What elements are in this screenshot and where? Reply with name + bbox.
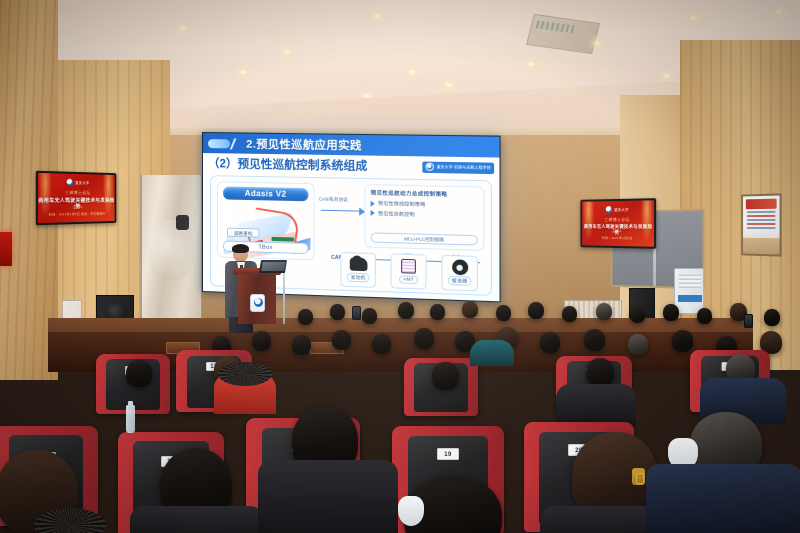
smartphone[interactable] [352,306,361,320]
presenter-hair [232,244,249,253]
right-banner-display: 重庆大学 三峡博士论坛 商用车无人驾驶关键技术与发展趋势 主讲人 时间：2021… [580,198,656,249]
audience-head [362,308,377,324]
device-row: 发动机 AMT 缓速器 [333,250,485,292]
audience-head [126,360,152,387]
engine-icon [349,257,367,272]
poster-line [747,223,776,225]
university-badge: 重庆大学 机械与运载工程学院 [423,161,494,174]
control-strategy-title: 预见性巡航动力总成控制策略 [371,189,478,198]
audience-shoulders [556,384,636,426]
audience-head [764,309,780,326]
ceiling-downlight [240,70,246,74]
audience-head [697,308,712,324]
ceiling-downlight [664,74,670,78]
audience-head [596,303,612,320]
water-bottle [126,405,135,433]
audience-head [414,328,434,349]
university-seal-icon [66,179,73,186]
presenter-laptop[interactable] [259,260,287,273]
device-caption: AMT [399,275,418,284]
poster-line [747,219,776,221]
retarder-icon [451,260,469,275]
audience-head [432,362,459,390]
ceiling-downlight [284,50,290,54]
audience-head [540,332,560,353]
audience-head [462,301,478,318]
seat-number-plate: 19 [437,448,459,460]
strategy-item-label: 预见性巡航控制 [378,209,415,217]
flow-arrow: CAN/私有协议 [319,201,369,218]
university-seal-icon [606,206,613,213]
audience-head [584,329,605,351]
audience-shoulders [470,340,514,366]
audience-head [430,304,445,320]
strategy-item: 预见性换挡控制策略 [371,200,478,210]
amt-icon [400,259,418,274]
auditorium-photo: 2.预见性巡航应用实践 （2）预见性巡航控制系统组成 重庆大学 机械与运载工程学… [0,0,800,533]
audience-head [252,331,271,351]
ceiling-downlight [528,62,534,66]
audience-shoulders [130,506,264,533]
poster-footer-image [743,238,780,255]
banner-subtitle: 三峡博士论坛 [582,217,654,223]
audience-head [398,302,414,319]
audience-head [528,302,544,319]
device-caption: 发动机 [346,273,369,283]
audience-head [586,358,614,387]
control-strategy-block: 预见性巡航动力总成控制策略 预见性换挡控制策略 预见性巡航控制 MCU-PLC控… [364,184,484,251]
poster-line [747,227,776,229]
audience-shoulders [258,460,398,533]
poster-line [747,211,776,213]
strategy-item: 预见性巡航控制 [371,209,478,219]
audience-head [630,307,645,323]
bullet-triangle-icon [371,210,375,216]
banner-speaker-label: 主讲人 [582,228,654,233]
ceiling-downlight [180,26,186,30]
device-amt: AMT [391,253,427,289]
can-drop-label: CAN [500,255,501,259]
banner-logo-text: 重庆大学 [75,180,89,185]
face-mask [398,496,424,526]
audience-head [372,334,391,354]
ceiling-downlight [409,70,415,74]
poster-heading [746,199,777,210]
audience-head [496,305,511,321]
wall-speaker-small [176,215,189,230]
audience-head [330,304,345,320]
university-badge-text: 重庆大学 机械与运载工程学院 [437,165,491,170]
wall-poster [741,193,781,256]
audience-shoulders [646,464,800,533]
map-tag-label: 道路重构 [227,228,259,238]
audience-head [663,304,679,321]
smartphone[interactable] [744,314,753,328]
device-engine: 发动机 [340,252,375,288]
legend-swatch-green [272,237,294,242]
ceiling-downlight [446,83,452,87]
slide-title: 2.预见性巡航应用实践 [246,136,362,154]
adasis-header: Adasis V2 [223,186,308,201]
led-strip-sign [0,232,12,266]
fur-collar [218,362,272,386]
slide-swoosh-icon [208,139,230,148]
audience-head [562,306,577,322]
audience-head [298,309,313,325]
device-caption: 缓速器 [448,276,472,286]
flow-arrow-line [321,210,360,212]
audience-head [628,334,648,355]
poster-line [747,215,776,217]
bullet-triangle-icon [371,200,375,206]
ceiling-downlight [374,14,380,18]
ceiling-downlight [594,41,600,45]
university-seal-icon [426,163,435,171]
banner-datetime: 时间：2021年1月8日 [582,236,654,241]
slide-subtitle-row: （2）预见性巡航控制系统组成 重庆大学 机械与运载工程学院 [203,153,500,178]
left-banner-display: 重庆大学 三峡博士论坛 商用车无人驾驶关键技术与发展趋势 主讲人 时间：2021… [36,171,117,226]
banner-speaker-label: 主讲人 [38,204,115,210]
audience-head [672,330,693,352]
banner-logo: 重庆大学 [606,206,629,213]
audience-area: 11 12 13 14 15 16 [0,300,800,533]
banner-datetime: 时间：2021年1月8日 地点：学术报告厅 [38,211,115,216]
strategy-item-label: 预见性换挡控制策略 [378,200,425,208]
banner-logo-text: 重庆大学 [614,207,628,212]
hair-clip [632,468,645,485]
banner-subtitle: 三峡博士论坛 [38,190,115,196]
ceiling-downlight [690,16,696,20]
mcu-strategy-bar: MCU-PLC控制策略 [371,232,478,245]
ceiling-downlight [776,10,782,14]
device-retarder: 缓速器 [441,255,477,291]
audience-head [332,330,351,350]
banner-logo: 重庆大学 [66,179,89,186]
slide-subtitle: （2）预见性巡航控制系统组成 [208,155,367,174]
audience-head [292,335,311,355]
flow-arrow-label: CAN/私有协议 [319,196,348,203]
